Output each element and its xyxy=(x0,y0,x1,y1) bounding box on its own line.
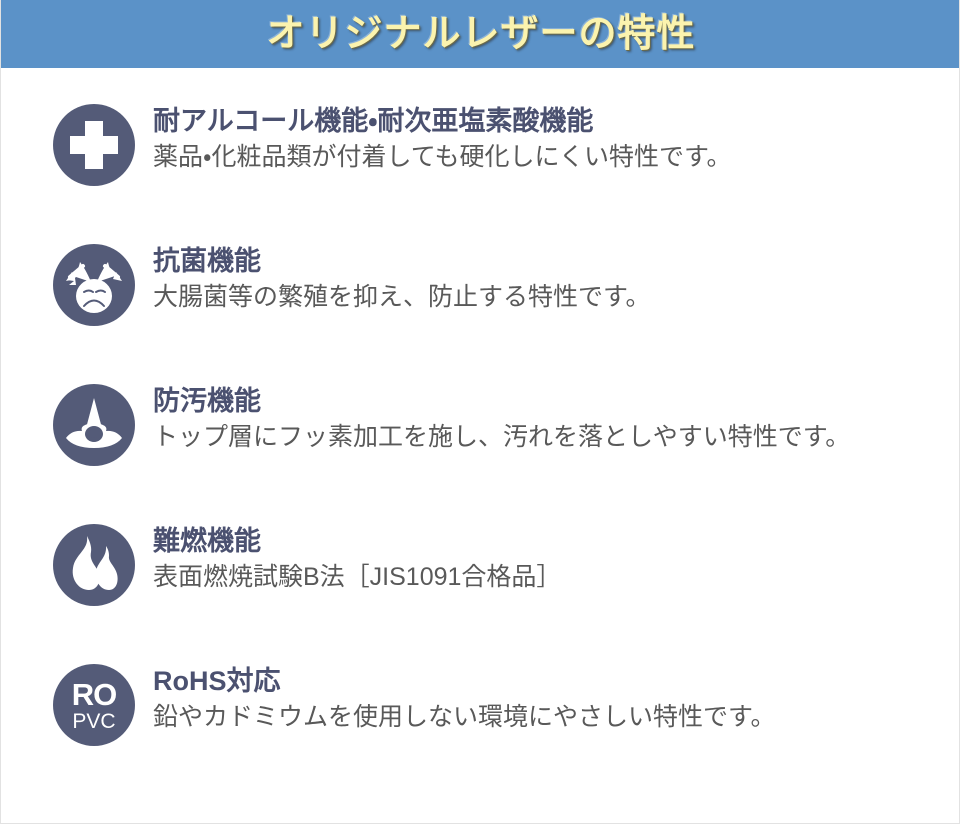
header-banner: オリジナルレザーの特性 xyxy=(1,0,960,68)
feature-text: RoHS対応 鉛やカドミウムを使用しない環境にやさしい特性です。 xyxy=(141,650,959,733)
medical-cross-icon xyxy=(53,104,135,186)
feature-description: 大腸菌等の繁殖を抑え、防止する特性です。 xyxy=(153,281,959,314)
feature-heading: 耐アルコール機能・耐次亜塩素酸機能 xyxy=(153,104,959,139)
feature-icon-wrap xyxy=(47,370,141,466)
rohs-badge-sub: PVC xyxy=(72,711,117,732)
feature-description: 表面燃焼試験B法［JIS1091合格品］ xyxy=(153,561,959,594)
feature-row: 抗菌機能 大腸菌等の繁殖を抑え、防止する特性です。 xyxy=(1,230,959,370)
feature-icon-wrap xyxy=(47,230,141,326)
feature-text: 耐アルコール機能・耐次亜塩素酸機能 薬品・化粧品類が付着しても硬化しにくい特性で… xyxy=(141,90,959,173)
feature-row: RO PVC RoHS対応 鉛やカドミウムを使用しない環境にやさしい特性です。 xyxy=(1,650,959,790)
feature-icon-wrap xyxy=(47,510,141,606)
page-title: オリジナルレザーの特性 xyxy=(266,15,695,53)
feature-icon-wrap xyxy=(47,90,141,186)
feature-text: 防汚機能 トップ層にフッ素加工を施し、汚れを落としやすい特性です。 xyxy=(141,370,959,453)
icon-circle xyxy=(53,104,135,186)
icon-circle xyxy=(53,384,135,466)
rohs-badge-text: RO PVC xyxy=(72,679,117,732)
icon-circle xyxy=(53,524,135,606)
rohs-pvc-free-icon: RO PVC xyxy=(53,664,135,746)
leather-features-card: オリジナルレザーの特性 耐アルコール機能・耐次亜塩素酸機能 薬品・化粧品類が付着… xyxy=(0,0,960,824)
feature-description: トップ層にフッ素加工を施し、汚れを落としやすい特性です。 xyxy=(153,421,959,454)
antibacterial-germ-icon xyxy=(53,244,135,326)
icon-circle xyxy=(53,244,135,326)
feature-list: 耐アルコール機能・耐次亜塩素酸機能 薬品・化粧品類が付着しても硬化しにくい特性で… xyxy=(1,68,959,790)
rohs-badge-main: RO xyxy=(72,679,117,710)
feature-heading: 防汚機能 xyxy=(153,384,959,419)
feature-text: 難燃機能 表面燃焼試験B法［JIS1091合格品］ xyxy=(141,510,959,593)
feature-heading: 抗菌機能 xyxy=(153,244,959,279)
water-repellent-droplet-icon xyxy=(53,384,135,466)
feature-heading: 難燃機能 xyxy=(153,524,959,559)
flame-icon xyxy=(53,524,135,606)
feature-description: 薬品・化粧品類が付着しても硬化しにくい特性です。 xyxy=(153,141,959,174)
feature-text: 抗菌機能 大腸菌等の繁殖を抑え、防止する特性です。 xyxy=(141,230,959,313)
feature-description: 鉛やカドミウムを使用しない環境にやさしい特性です。 xyxy=(153,701,959,734)
feature-heading: RoHS対応 xyxy=(153,664,959,699)
feature-icon-wrap: RO PVC xyxy=(47,650,141,746)
feature-row: 耐アルコール機能・耐次亜塩素酸機能 薬品・化粧品類が付着しても硬化しにくい特性で… xyxy=(1,90,959,230)
feature-row: 難燃機能 表面燃焼試験B法［JIS1091合格品］ xyxy=(1,510,959,650)
feature-row: 防汚機能 トップ層にフッ素加工を施し、汚れを落としやすい特性です。 xyxy=(1,370,959,510)
